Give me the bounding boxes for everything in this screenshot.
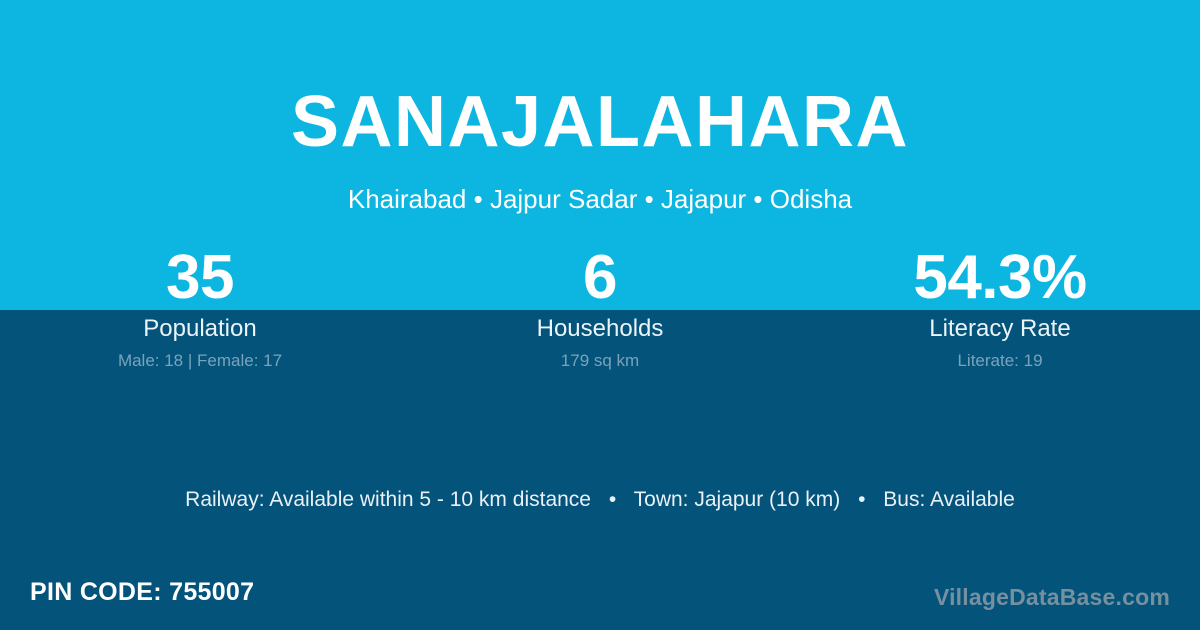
stat-sublabel: 179 sq km [400, 350, 800, 372]
stat-population: 35 Population Male: 18 | Female: 17 [0, 245, 400, 372]
stat-value: 35 [0, 245, 400, 310]
amenity-town: Town: Jajapur (10 km) [634, 488, 841, 511]
page-title: SANAJALAHARA [0, 79, 1200, 165]
pin-code: PIN CODE: 755007 [30, 576, 254, 608]
amenity-railway: Railway: Available within 5 - 10 km dist… [185, 488, 591, 511]
stat-households: 6 Households 179 sq km [400, 245, 800, 372]
stat-sublabel: Male: 18 | Female: 17 [0, 350, 400, 372]
brand-watermark: VillageDataBase.com [934, 582, 1170, 612]
bullet-separator-icon: • [597, 486, 628, 514]
stat-label: Households [400, 314, 800, 344]
stat-label: Literacy Rate [800, 314, 1200, 344]
bullet-separator-icon: • [846, 486, 877, 514]
stat-sublabel: Literate: 19 [800, 350, 1200, 372]
stat-value: 6 [400, 245, 800, 310]
stats-row: 35 Population Male: 18 | Female: 17 6 Ho… [0, 245, 1200, 372]
amenity-bus: Bus: Available [883, 488, 1015, 511]
amenities-line: Railway: Available within 5 - 10 km dist… [0, 486, 1200, 514]
stat-label: Population [0, 314, 400, 344]
stat-literacy-rate: 54.3% Literacy Rate Literate: 19 [800, 245, 1200, 372]
village-info-card: SANAJALAHARA Khairabad • Jajpur Sadar • … [0, 0, 1200, 630]
breadcrumb: Khairabad • Jajpur Sadar • Jajapur • Odi… [0, 182, 1200, 216]
stat-value: 54.3% [800, 245, 1200, 310]
